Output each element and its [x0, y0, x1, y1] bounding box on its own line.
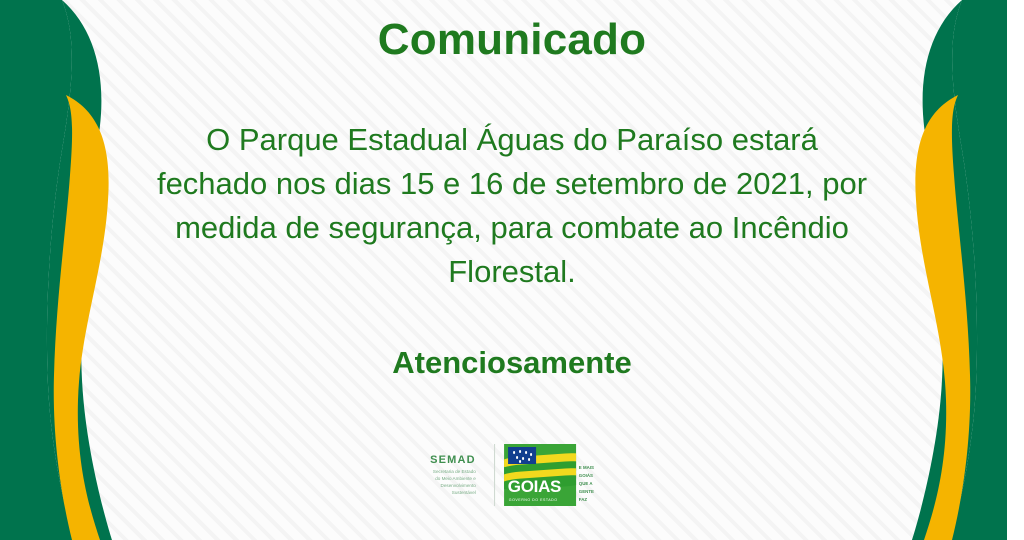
semad-logo: SEMAD Secretaria de Estado do Meio Ambie… [430, 454, 485, 497]
goias-logo: GOIAS GOVERNO DO ESTADO E MAIS GOIÁS QUE… [504, 444, 594, 506]
goias-wordmark: GOIAS [508, 478, 561, 495]
goias-tagline: GOVERNO DO ESTADO [509, 499, 558, 503]
closing-salutation: Atenciosamente [118, 294, 906, 381]
logo-divider [494, 444, 495, 506]
page-title: Comunicado [118, 0, 906, 64]
goias-flag-icon: GOIAS GOVERNO DO ESTADO [504, 444, 576, 506]
semad-acronym: SEMAD [430, 454, 476, 466]
flag-canton-icon [508, 447, 536, 464]
announcement-body: O Parque Estadual Águas do Paraíso estar… [118, 64, 906, 294]
right-edge-gutter [1007, 0, 1024, 540]
goias-motto: E MAIS GOIÁS QUE A GENTE FAZ [579, 444, 594, 504]
comunicado-poster: Comunicado O Parque Estadual Águas do Pa… [0, 0, 1024, 540]
semad-subtitle: Secretaria de Estado do Meio Ambiente e … [430, 468, 476, 496]
logo-lockup: SEMAD Secretaria de Estado do Meio Ambie… [430, 444, 594, 506]
